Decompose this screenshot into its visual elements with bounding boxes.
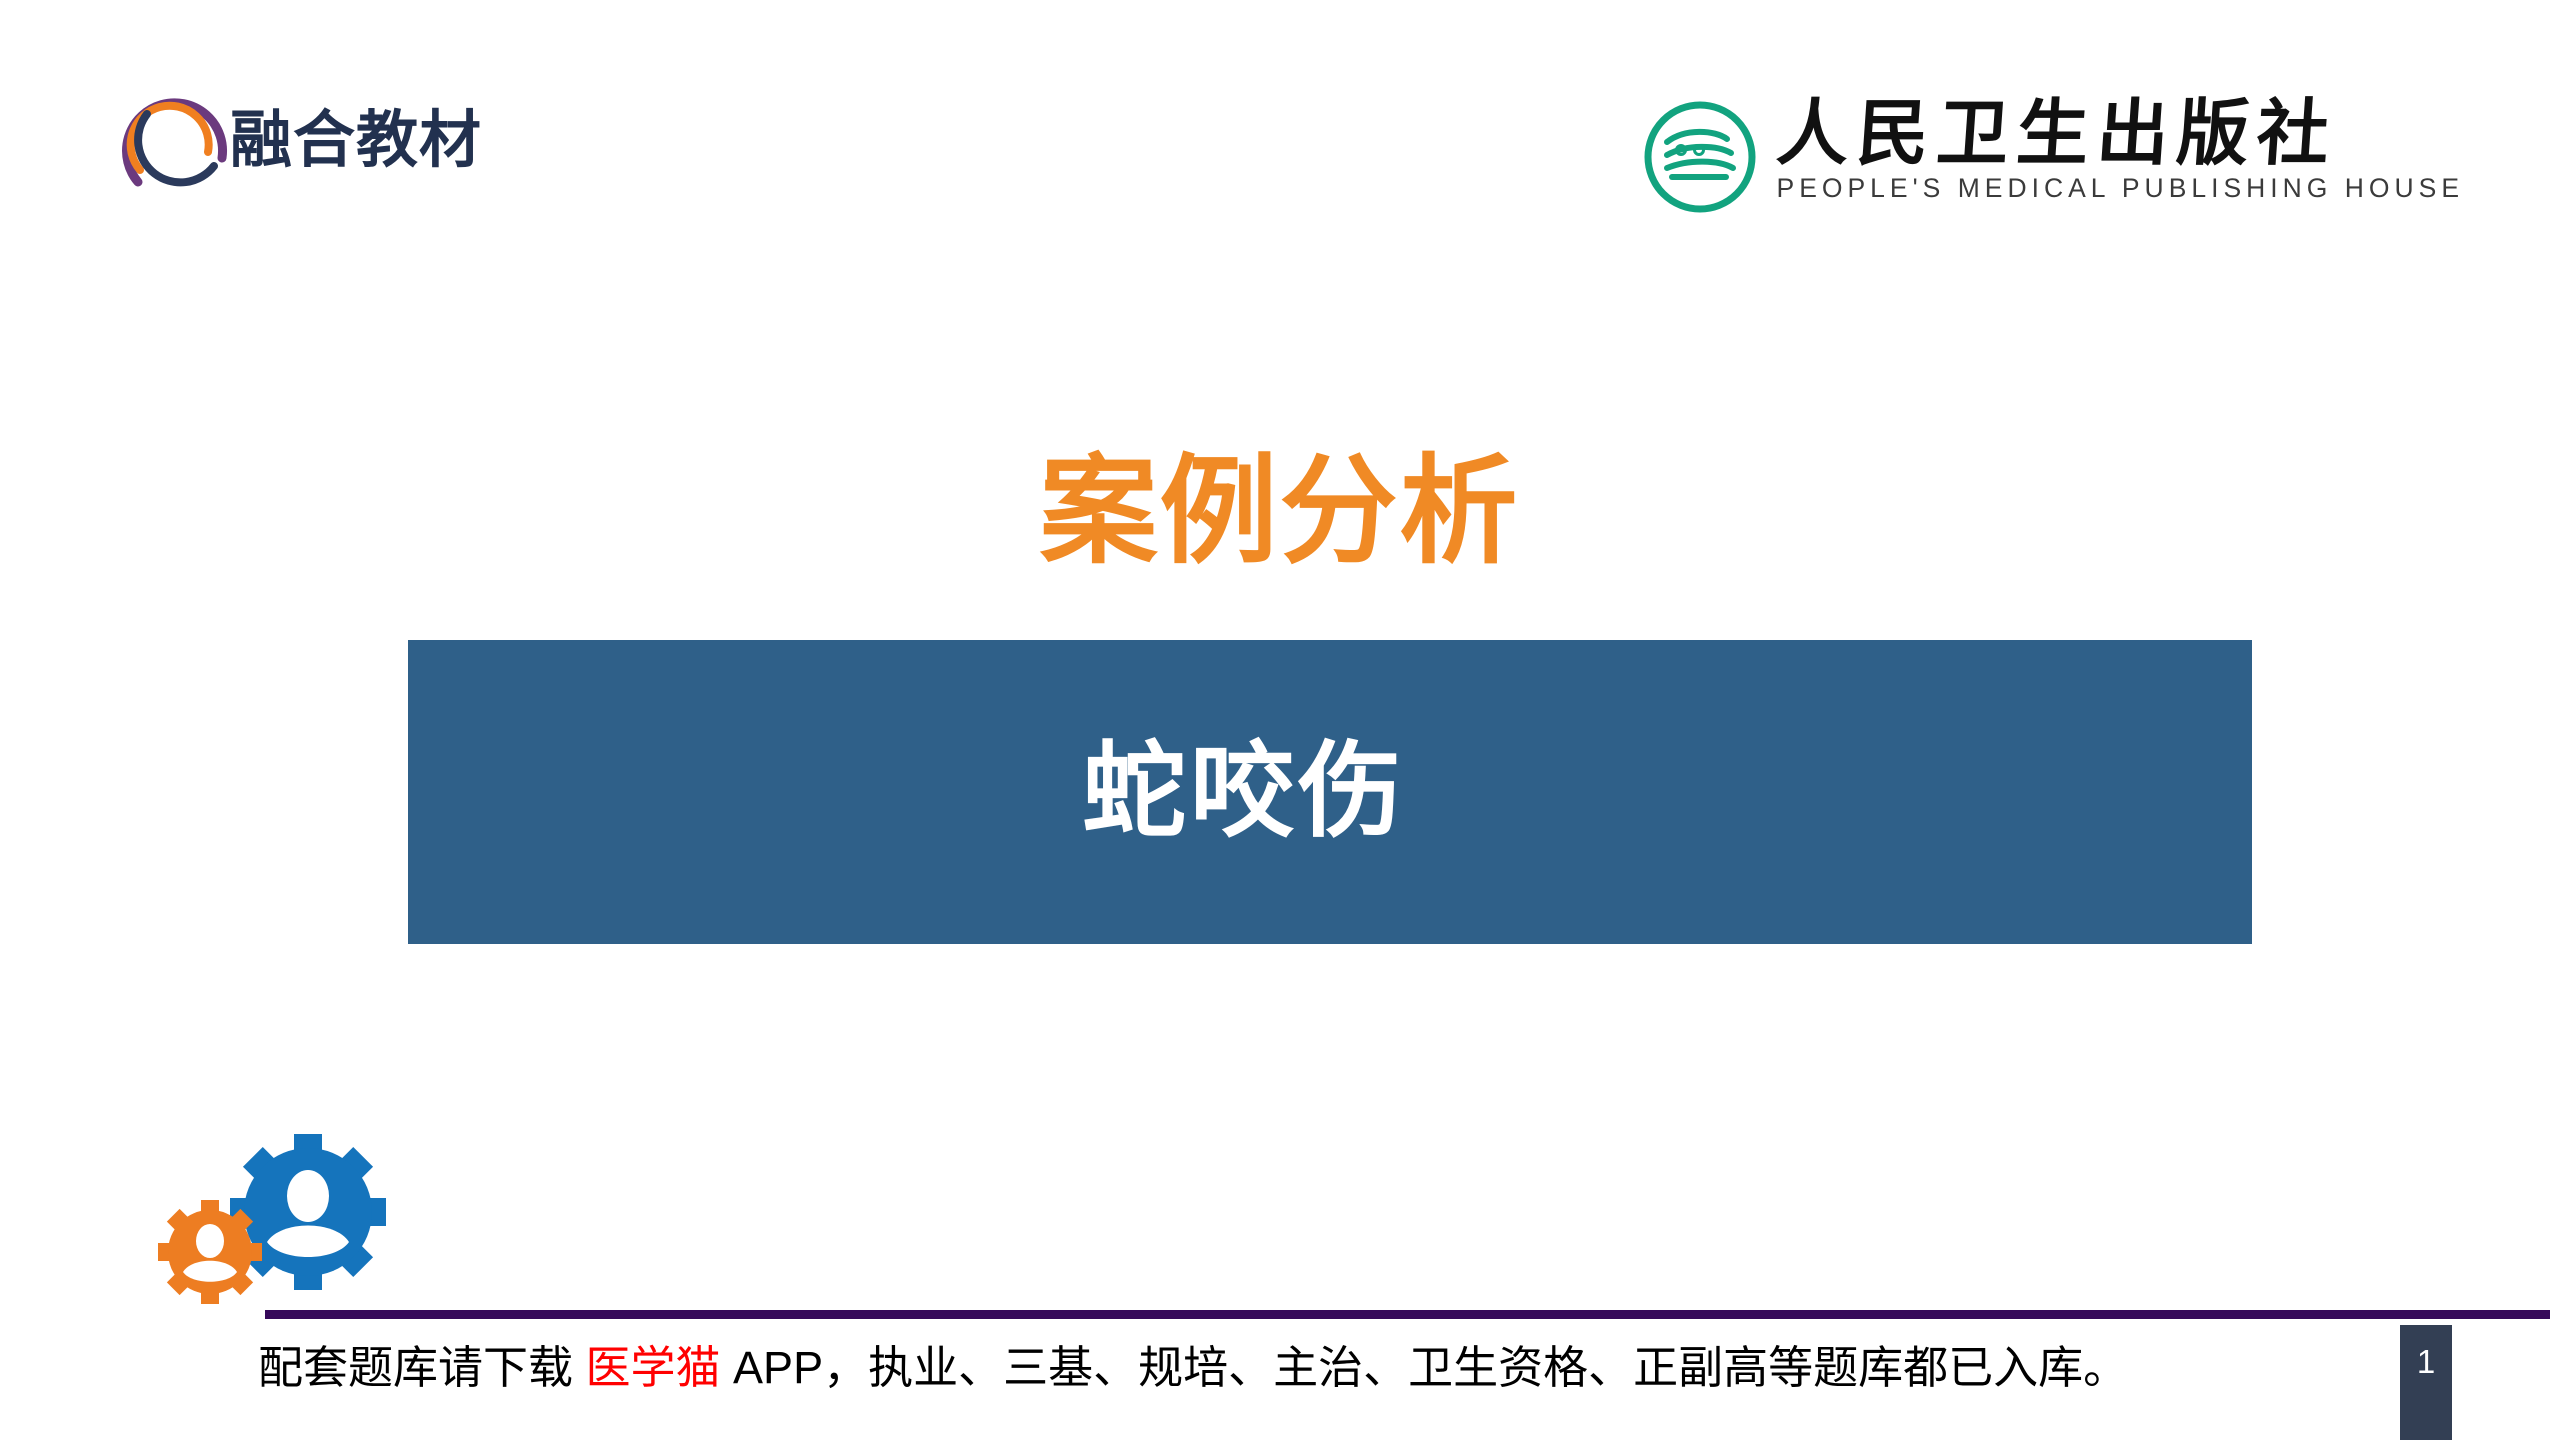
circular-arc-logo-icon [118,78,248,208]
brand-name: 融合教材 [230,110,482,172]
topic-banner: 蛇咬伤 [408,640,2252,944]
footer-note-prefix: 配套题库请下载 [258,1342,586,1393]
publisher-logo: 人民卫生出版社 PEOPLE'S MEDICAL PUBLISHING HOUS… [1641,96,2464,226]
footer-note-suffix: APP，执业、三基、规培、主治、卫生资格、正副高等题库都已入库。 [721,1342,2129,1393]
page-number-badge: 1 [2400,1325,2452,1440]
slide-canvas: 融合教材 人民卫生出版社 PEOPLE'S MEDICAL PUBLISHING… [0,0,2559,1440]
publisher-name-cn: 人民卫生出版社 [1774,96,2467,169]
footer-note: 配套题库请下载 医学猫 APP，执业、三基、规培、主治、卫生资格、正副高等题库都… [258,1338,2358,1399]
page-title: 案例分析 [0,446,2559,578]
footer-divider [265,1310,2550,1319]
brand-logo: 融合教材 [118,70,438,215]
publisher-name-en: PEOPLE'S MEDICAL PUBLISHING HOUSE [1777,173,2464,204]
topic-banner-label: 蛇咬伤 [1082,740,1406,844]
footer-note-highlight: 医学猫 [586,1342,721,1393]
publisher-emblem-icon [1641,98,1759,216]
gears-people-icon [140,1120,430,1310]
publisher-names: 人民卫生出版社 PEOPLE'S MEDICAL PUBLISHING HOUS… [1777,96,2464,204]
page-number-value: 1 [2417,1345,2435,1378]
